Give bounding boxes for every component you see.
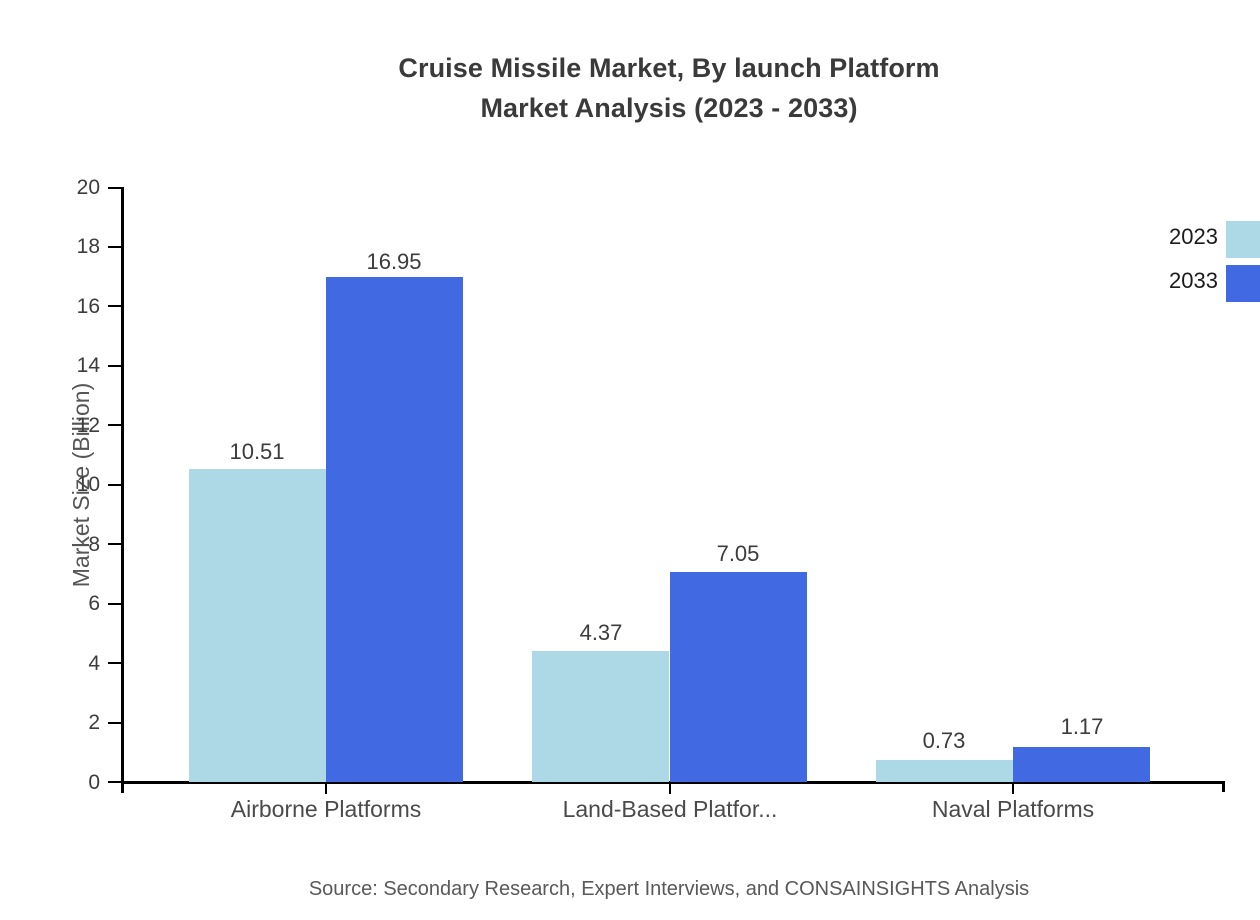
y-tick-4 xyxy=(108,662,122,664)
chart-title-line-1: Cruise Missile Market, By launch Platfor… xyxy=(0,48,1260,88)
x-tick-label-land-based-platforms: Land-Based Platfor... xyxy=(490,795,850,823)
legend-swatch-2023 xyxy=(1226,221,1260,258)
y-axis-spine xyxy=(121,187,124,793)
y-tick-0 xyxy=(108,781,122,783)
source-note: Source: Secondary Research, Expert Inter… xyxy=(0,878,1260,901)
x-axis-end-tick xyxy=(1222,781,1225,792)
y-tick-label-10: 10 xyxy=(40,474,100,495)
bar-value-2033-airborne-platforms: 16.95 xyxy=(294,251,494,273)
bar-value-2033-naval-platforms: 1.17 xyxy=(982,716,1182,738)
x-tick-naval-platforms xyxy=(1012,782,1014,794)
legend-item-2023[interactable]: 2023 xyxy=(1100,218,1260,256)
y-tick-label-6: 6 xyxy=(40,593,100,614)
x-tick-label-airborne-platforms: Airborne Platforms xyxy=(146,795,506,823)
y-tick-16 xyxy=(108,305,122,307)
y-tick-label-20: 20 xyxy=(40,177,100,198)
bar-2023-land-based-platforms[interactable] xyxy=(532,651,669,782)
chart-legend: 2023 2033 xyxy=(1100,218,1260,308)
chart-title-line-2: Market Analysis (2023 - 2033) xyxy=(0,88,1260,128)
y-tick-label-2: 2 xyxy=(40,712,100,733)
y-tick-6 xyxy=(108,603,122,605)
y-tick-label-14: 14 xyxy=(40,355,100,376)
legend-label-2033: 2033 xyxy=(1100,270,1218,292)
y-tick-label-8: 8 xyxy=(40,534,100,555)
legend-label-2023: 2023 xyxy=(1100,226,1218,248)
bar-2023-naval-platforms[interactable] xyxy=(876,760,1013,782)
x-tick-label-naval-platforms: Naval Platforms xyxy=(833,795,1193,823)
y-tick-label-0: 0 xyxy=(40,772,100,793)
bar-2033-airborne-platforms[interactable] xyxy=(326,277,463,782)
bar-2033-naval-platforms[interactable] xyxy=(1013,747,1150,782)
y-tick-2 xyxy=(108,722,122,724)
bar-value-2033-land-based-platforms: 7.05 xyxy=(638,543,838,565)
y-tick-8 xyxy=(108,543,122,545)
legend-item-2033[interactable]: 2033 xyxy=(1100,262,1260,300)
legend-swatch-2033 xyxy=(1226,265,1260,302)
x-tick-airborne-platforms xyxy=(325,782,327,794)
bar-2033-land-based-platforms[interactable] xyxy=(670,572,807,782)
y-tick-12 xyxy=(108,424,122,426)
y-tick-label-12: 12 xyxy=(40,415,100,436)
x-tick-land-based-platforms xyxy=(669,782,671,794)
chart-figure: Cruise Missile Market, By launch Platfor… xyxy=(0,0,1260,920)
y-tick-18 xyxy=(108,246,122,248)
y-tick-14 xyxy=(108,365,122,367)
chart-title: Cruise Missile Market, By launch Platfor… xyxy=(0,48,1260,128)
bar-2023-airborne-platforms[interactable] xyxy=(189,469,326,782)
y-tick-label-18: 18 xyxy=(40,236,100,257)
y-tick-20 xyxy=(108,187,122,189)
y-tick-label-4: 4 xyxy=(40,653,100,674)
y-tick-10 xyxy=(108,484,122,486)
y-tick-label-16: 16 xyxy=(40,296,100,317)
